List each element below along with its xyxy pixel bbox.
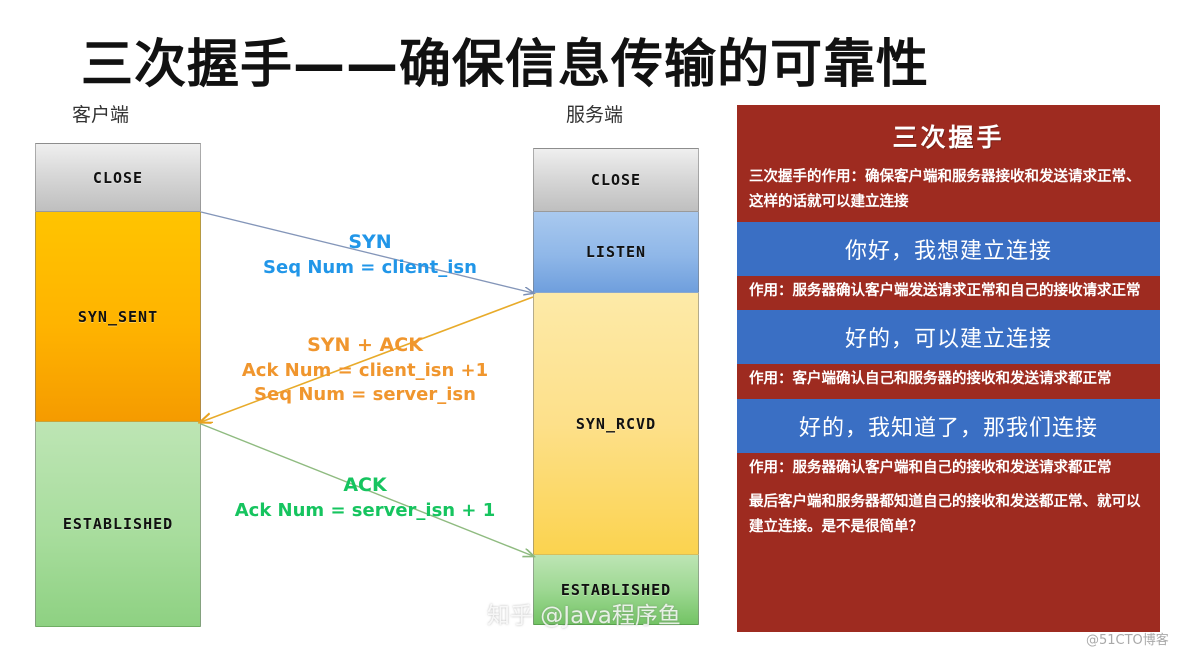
message-ack-line2: Ack Num = server_isn + 1 — [200, 499, 530, 523]
info-note-5: 最后客户端和服务器都知道自己的接收和发送都正常、就可以建立连接。是不是很简单？ — [737, 487, 1160, 547]
info-note-3: 作用：客户端确认自己和服务器的接收和发送请求都正常 — [737, 364, 1160, 398]
message-label-syn-ack: SYN + ACK Ack Num = client_isn +1 Seq Nu… — [195, 333, 535, 407]
info-panel-heading: 三次握手 — [737, 105, 1160, 162]
info-speech-2: 好的，可以建立连接 — [737, 310, 1160, 364]
info-note-2: 作用：服务器确认客户端发送请求正常和自己的接收请求正常 — [737, 276, 1160, 310]
info-speech-3: 好的，我知道了，那我们连接 — [737, 399, 1160, 453]
message-syn-ack-line2: Ack Num = client_isn +1 — [195, 359, 535, 383]
message-syn-line2: Seq Num = client_isn — [205, 256, 535, 280]
info-speech-1: 你好，我想建立连接 — [737, 222, 1160, 276]
message-ack-line1: ACK — [200, 473, 530, 499]
message-label-ack: ACK Ack Num = server_isn + 1 — [200, 473, 530, 523]
info-note-4: 作用：服务器确认客户端和自己的接收和发送请求都正常 — [737, 453, 1160, 487]
message-label-syn: SYN Seq Num = client_isn — [205, 230, 535, 280]
info-panel: 三次握手 三次握手的作用：确保客户端和服务器接收和发送请求正常、这样的话就可以建… — [737, 105, 1160, 632]
message-syn-ack-line3: Seq Num = server_isn — [195, 383, 535, 407]
message-syn-line1: SYN — [205, 230, 535, 256]
message-syn-ack-line1: SYN + ACK — [195, 333, 535, 359]
info-note-1: 三次握手的作用：确保客户端和服务器接收和发送请求正常、这样的话就可以建立连接 — [737, 162, 1160, 222]
